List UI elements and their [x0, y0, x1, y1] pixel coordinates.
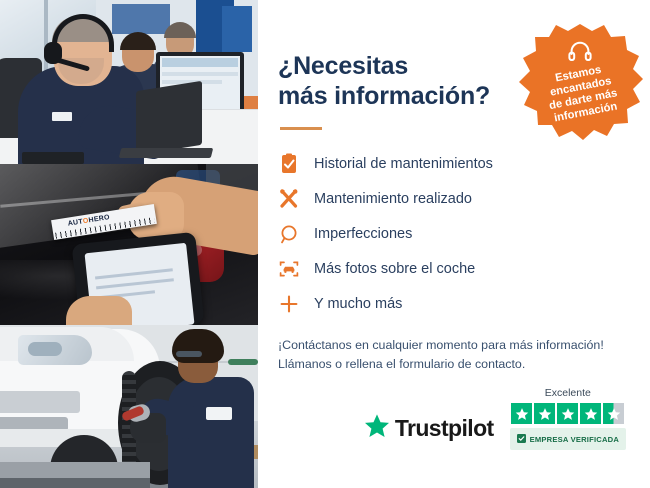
photo-call-center-agent-headset [0, 0, 258, 164]
plus-icon [278, 293, 300, 315]
photo-collage: AUTOHERO [0, 0, 258, 488]
contact-note-line-1: ¡Contáctanos en cualquier momento para m… [278, 336, 626, 355]
car-photo-frame-icon [278, 258, 300, 280]
trustpilot-star-icon [364, 413, 390, 444]
headline-line-2: más información? [278, 82, 490, 110]
monitor-screen-bar [162, 58, 238, 67]
list-item-label: Más fotos sobre el coche [314, 261, 475, 277]
clipboard-check-icon [278, 153, 300, 175]
star-filled [580, 403, 601, 424]
list-item: Imperfecciones [278, 218, 626, 250]
rating-label: Excelente [545, 387, 591, 399]
trustpilot-wordmark: Trustpilot [395, 415, 494, 442]
contact-note-line-2: Llámanos o rellena el formulario de cont… [278, 355, 626, 374]
feature-list: Historial de mantenimientos Mantenimient… [278, 148, 626, 320]
star-filled [534, 403, 555, 424]
starburst-badge: Estamos encantados de darte más informac… [516, 22, 644, 144]
list-item-label: Historial de mantenimientos [314, 156, 493, 172]
list-item: Historial de mantenimientos [278, 148, 626, 180]
check-square-icon [517, 430, 526, 448]
garage-hose [228, 359, 258, 365]
list-item: Y mucho más [278, 288, 626, 320]
crossed-tools-icon [278, 188, 300, 210]
star-filled [557, 403, 578, 424]
list-item-label: Y mucho más [314, 296, 402, 312]
title-divider [280, 127, 322, 130]
photo-inspection-ruler-autohero: AUTOHERO [0, 164, 258, 325]
info-banner: AUTOHERO [0, 0, 650, 488]
rating-stars [511, 403, 624, 424]
mechanic-safety-glasses [176, 351, 202, 357]
magnifier-icon [278, 223, 300, 245]
agent-name-badge [52, 112, 72, 121]
trustpilot-rating: Excelente [510, 387, 626, 450]
headset-icon [568, 40, 592, 62]
mechanic-hair [172, 329, 224, 363]
contact-note: ¡Contáctanos en cualquier momento para m… [278, 336, 626, 374]
info-panel: ¿Necesitas más información? Historial de… [258, 0, 650, 488]
verified-badge: EMPRESA VERIFICADA [510, 428, 626, 450]
car-lift-base [0, 478, 150, 488]
star-filled [511, 403, 532, 424]
blue-panel-2 [222, 6, 252, 52]
page-title: ¿Necesitas más información? [278, 52, 508, 111]
laptop-lid [136, 81, 202, 155]
car-headlight [18, 335, 92, 365]
star-half [603, 403, 624, 424]
desk-tablet [22, 152, 84, 164]
verified-label: EMPRESA VERIFICADA [530, 435, 619, 444]
trustpilot-logo[interactable]: Trustpilot [364, 413, 494, 450]
inspector-hand-lower [66, 296, 132, 325]
list-item-label: Imperfecciones [314, 226, 412, 242]
list-item: Mantenimiento realizado [278, 183, 626, 215]
wall-poster [112, 4, 170, 34]
car-grille [0, 391, 80, 413]
laptop-base [119, 148, 213, 158]
monitor-screen-row [162, 72, 238, 76]
trustpilot-widget[interactable]: Trustpilot Excelente [278, 387, 626, 450]
headline-line-1: ¿Necesitas [278, 52, 408, 80]
photo-mechanic-wheel-inspection [0, 325, 258, 488]
list-item-label: Mantenimiento realizado [314, 191, 472, 207]
list-item: Más fotos sobre el coche [278, 253, 626, 285]
mechanic-shirt-logo [206, 407, 232, 420]
